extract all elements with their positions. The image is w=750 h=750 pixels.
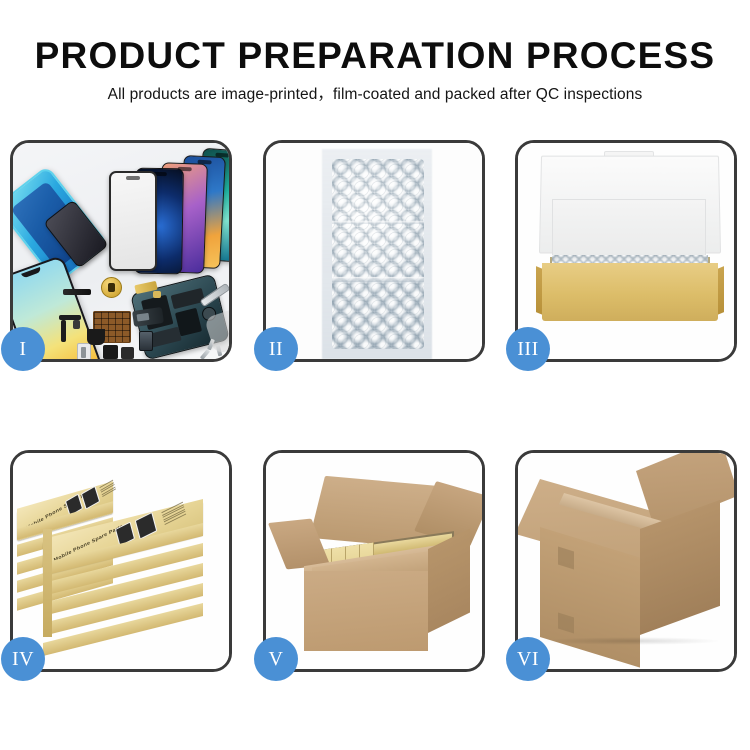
step-panel-2: II <box>263 140 485 362</box>
notch <box>21 267 42 279</box>
step-panel-3: III <box>515 140 737 362</box>
sim-tray-icon <box>77 343 91 359</box>
notch <box>126 176 140 180</box>
vibration-motor-icon <box>101 277 122 298</box>
ic-chip-icon <box>103 345 118 359</box>
step-5-image <box>266 453 482 669</box>
step-badge-2: II <box>254 327 298 371</box>
step-badge-5: V <box>254 637 298 681</box>
box-spec-lines <box>161 502 186 527</box>
step-4-image: Mobile Phone Spare Parts <box>13 453 229 669</box>
wrap-seam <box>332 221 424 224</box>
step-badge-3: III <box>506 327 550 371</box>
retail-box-side <box>43 529 52 637</box>
step-badge-4: IV <box>1 637 45 681</box>
bubble-pattern-overlay <box>332 159 424 349</box>
step-badge-1: I <box>1 327 45 371</box>
kraft-box-stack: Mobile Phone Spare Parts <box>13 469 229 665</box>
kraft-box-base-icon <box>542 263 718 321</box>
box-lid-face <box>552 199 706 263</box>
step-2-image <box>266 143 482 359</box>
product-preparation-infographic: PRODUCT PREPARATION PROCESS All products… <box>0 0 750 750</box>
step-panel-5: V <box>263 450 485 672</box>
wrap-seam <box>332 277 424 282</box>
step-6-image <box>518 453 734 669</box>
battery-connector-icon <box>139 331 153 351</box>
step-panel-6: VI <box>515 450 737 672</box>
carton-shadow <box>542 637 722 645</box>
ribbon-connector <box>73 320 80 329</box>
earpiece-speaker-icon <box>63 289 91 295</box>
step-panel-1: I <box>10 140 232 362</box>
process-step-grid: I II <box>0 0 750 750</box>
ic-chip-icon <box>121 347 134 359</box>
bubble-wrap-package-icon <box>332 159 424 349</box>
phone-screen-white-icon <box>109 171 157 271</box>
flex-ribbon-icon <box>59 315 85 343</box>
carton-front-face <box>304 571 428 651</box>
step-badge-6: VI <box>506 637 550 681</box>
box-spec-lines <box>99 480 116 499</box>
speaker-housing-icon <box>87 329 105 345</box>
ribbon-segment <box>61 320 66 342</box>
small-connector-icon <box>153 291 161 298</box>
step-panel-4: Mobile Phone Spare Parts <box>10 450 232 672</box>
step-1-image <box>13 143 229 359</box>
step-3-image <box>518 143 734 359</box>
chip <box>171 288 205 309</box>
chip <box>149 327 181 348</box>
